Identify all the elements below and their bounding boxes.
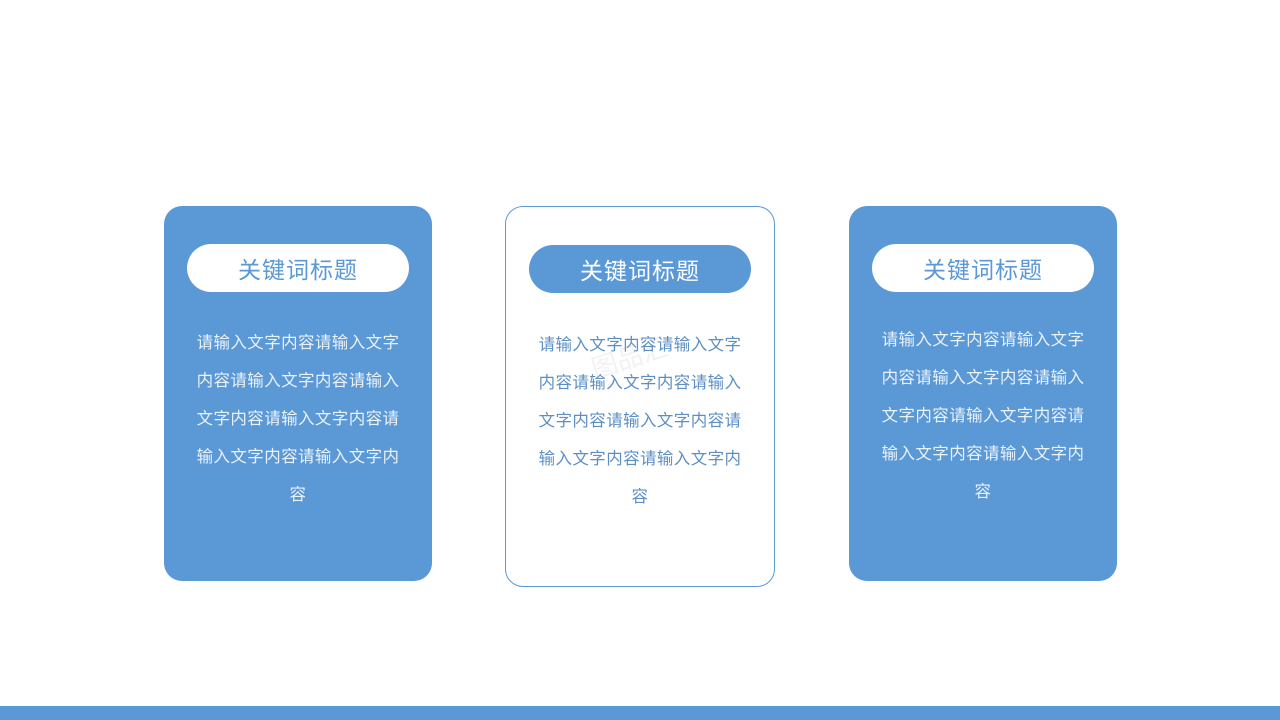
slide-canvas: 关键词标题 请输入文字内容请输入文字内容请输入文字内容请输入文字内容请输入文字内… — [0, 0, 1280, 720]
card-2-title-text: 关键词标题 — [580, 252, 700, 286]
card-1-title-text: 关键词标题 — [238, 251, 358, 285]
keyword-card-1[interactable]: 关键词标题 请输入文字内容请输入文字内容请输入文字内容请输入文字内容请输入文字内… — [164, 206, 432, 581]
card-3-title-text: 关键词标题 — [923, 251, 1043, 285]
keyword-card-3[interactable]: 关键词标题 请输入文字内容请输入文字内容请输入文字内容请输入文字内容请输入文字内… — [849, 206, 1117, 581]
card-1-body-text: 请输入文字内容请输入文字内容请输入文字内容请输入文字内容请输入文字内容请输入文字… — [189, 324, 407, 514]
bottom-accent-bar — [0, 706, 1280, 720]
keyword-card-2[interactable]: 关键词标题 请输入文字内容请输入文字内容请输入文字内容请输入文字内容请输入文字内… — [505, 206, 775, 587]
card-2-body-text: 请输入文字内容请输入文字内容请输入文字内容请输入文字内容请输入文字内容请输入文字… — [534, 326, 746, 516]
card-1-title-pill[interactable]: 关键词标题 — [187, 244, 409, 292]
card-3-body-text: 请输入文字内容请输入文字内容请输入文字内容请输入文字内容请输入文字内容请输入文字… — [875, 321, 1091, 511]
card-2-title-pill[interactable]: 关键词标题 — [529, 245, 751, 293]
cards-row: 关键词标题 请输入文字内容请输入文字内容请输入文字内容请输入文字内容请输入文字内… — [0, 206, 1280, 588]
card-3-title-pill[interactable]: 关键词标题 — [872, 244, 1094, 292]
